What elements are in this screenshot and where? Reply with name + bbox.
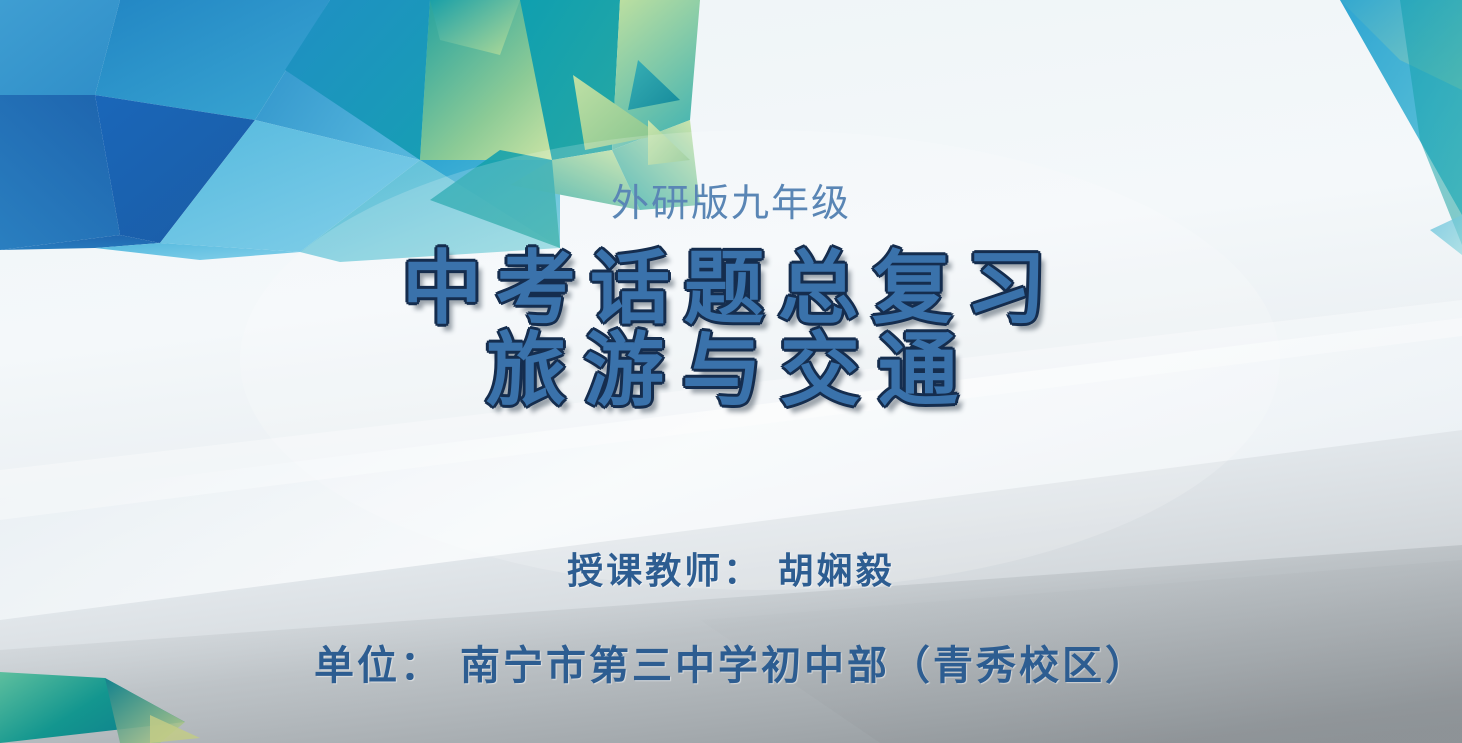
title-line-secondary: 旅游与交通 [0,330,1462,412]
course-label: 外研版九年级 [0,172,1462,227]
institution-name: 单位： 南宁市第三中学初中部（青秀校区） [0,633,1462,691]
page-title: 中考话题总复习 旅游与交通 [0,248,1462,411]
presentation-title-slide: 外研版九年级 中考话题总复习 旅游与交通 授课教师： 胡娴毅 单位： 南宁市第三… [0,0,1462,743]
title-line-primary: 中考话题总复习 [0,248,1462,330]
presenter-name: 授课教师： 胡娴毅 [0,542,1462,594]
slide-content: 外研版九年级 中考话题总复习 旅游与交通 授课教师： 胡娴毅 单位： 南宁市第三… [0,0,1462,743]
